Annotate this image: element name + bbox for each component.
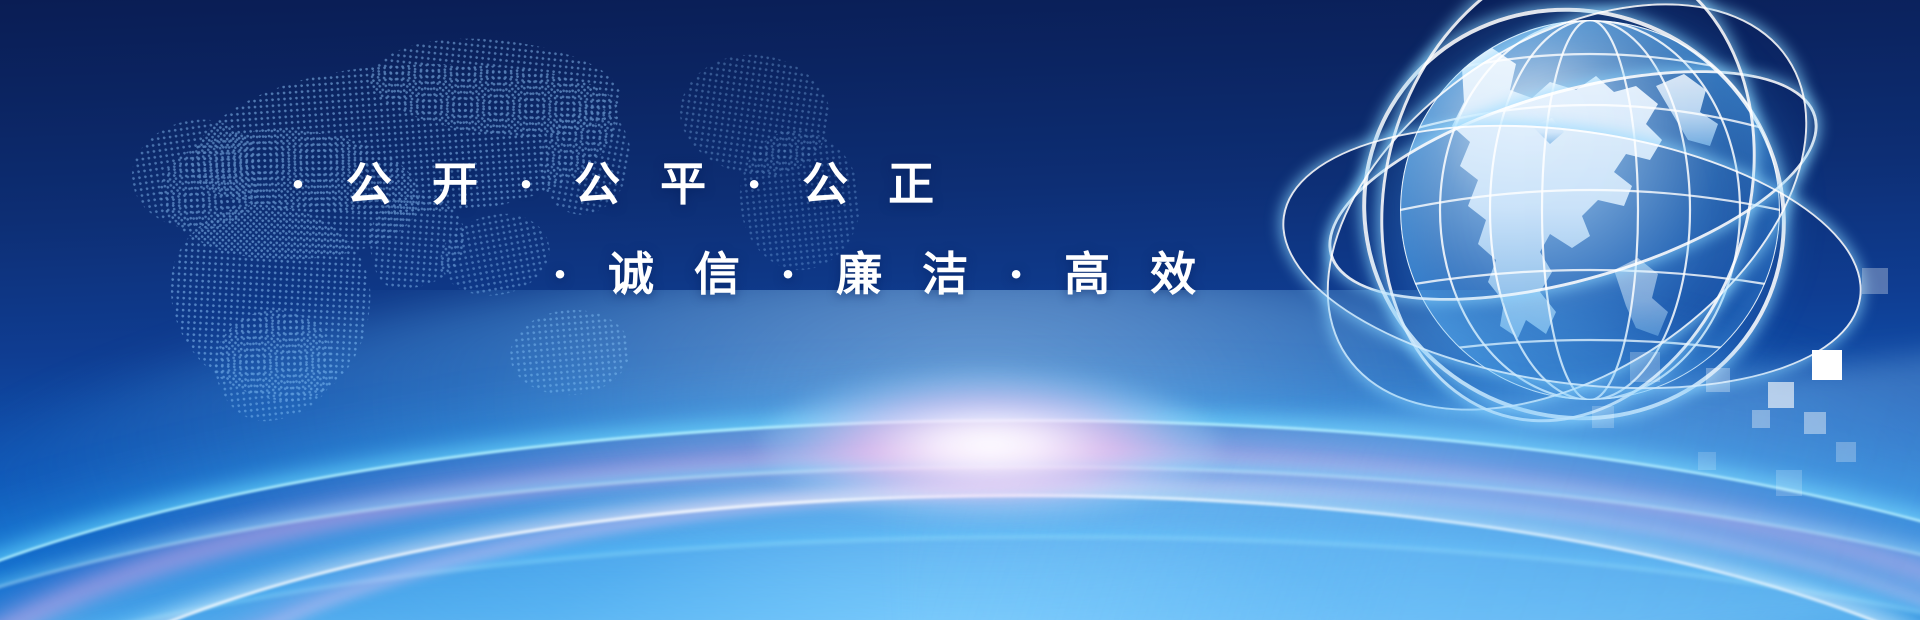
headline-line-1: · 公 开 · 公 平 · 公 正 bbox=[290, 148, 946, 214]
decorative-square-10 bbox=[1776, 470, 1802, 496]
headline-line-2: · 诚 信 · 廉 洁 · 高 效 bbox=[552, 238, 1208, 304]
decorative-square-6 bbox=[1706, 368, 1730, 392]
banner-hero: · 公 开 · 公 平 · 公 正 · 诚 信 · 廉 洁 · 高 效 bbox=[0, 0, 1920, 620]
decorative-square-8 bbox=[1592, 406, 1614, 428]
light-wave-graphic bbox=[0, 290, 1920, 620]
decorative-square-5 bbox=[1752, 410, 1770, 428]
decorative-square-1 bbox=[1862, 268, 1888, 294]
decorative-square-2 bbox=[1812, 350, 1842, 380]
wave-hotspot bbox=[760, 370, 1220, 520]
decorative-square-7 bbox=[1630, 352, 1660, 382]
decorative-square-9 bbox=[1836, 442, 1856, 462]
decorative-square-3 bbox=[1768, 382, 1794, 408]
decorative-square-4 bbox=[1804, 412, 1826, 434]
decorative-square-11 bbox=[1698, 452, 1716, 470]
